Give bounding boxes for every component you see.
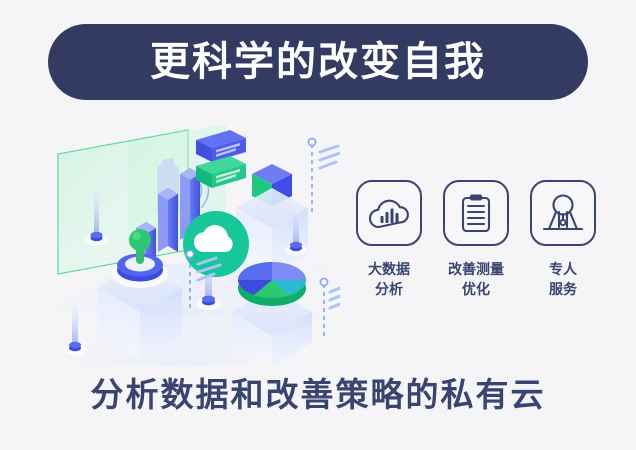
feature-label: 改善测量 优化 bbox=[448, 259, 504, 300]
cloud-bar-chart-icon bbox=[368, 196, 410, 230]
feature-item-dedicated-service[interactable]: 专人 服务 bbox=[526, 180, 600, 300]
page-title: 更科学的改变自我 bbox=[150, 42, 486, 82]
clipboard-checklist-icon bbox=[459, 193, 493, 233]
feature-item-improvement-measurement[interactable]: 改善测量 优化 bbox=[439, 180, 513, 300]
feature-icon-frame bbox=[356, 180, 422, 246]
feature-icon-frame bbox=[530, 180, 596, 246]
main-stage: 大数据 分析 改善测量 优化 bbox=[0, 108, 636, 370]
header-banner: 更科学的改变自我 bbox=[48, 24, 588, 100]
feature-item-big-data-analysis[interactable]: 大数据 分析 bbox=[352, 180, 426, 300]
feature-list: 大数据 分析 改善测量 优化 bbox=[352, 180, 600, 300]
feature-icon-frame bbox=[443, 180, 509, 246]
feature-label: 大数据 分析 bbox=[368, 259, 410, 300]
isometric-data-platform-illustration bbox=[40, 116, 340, 366]
feature-label: 专人 服务 bbox=[549, 259, 577, 300]
tagline: 分析数据和改善策略的私有云 bbox=[0, 378, 636, 411]
support-agent-icon bbox=[541, 193, 585, 233]
pie-chart bbox=[238, 262, 306, 306]
